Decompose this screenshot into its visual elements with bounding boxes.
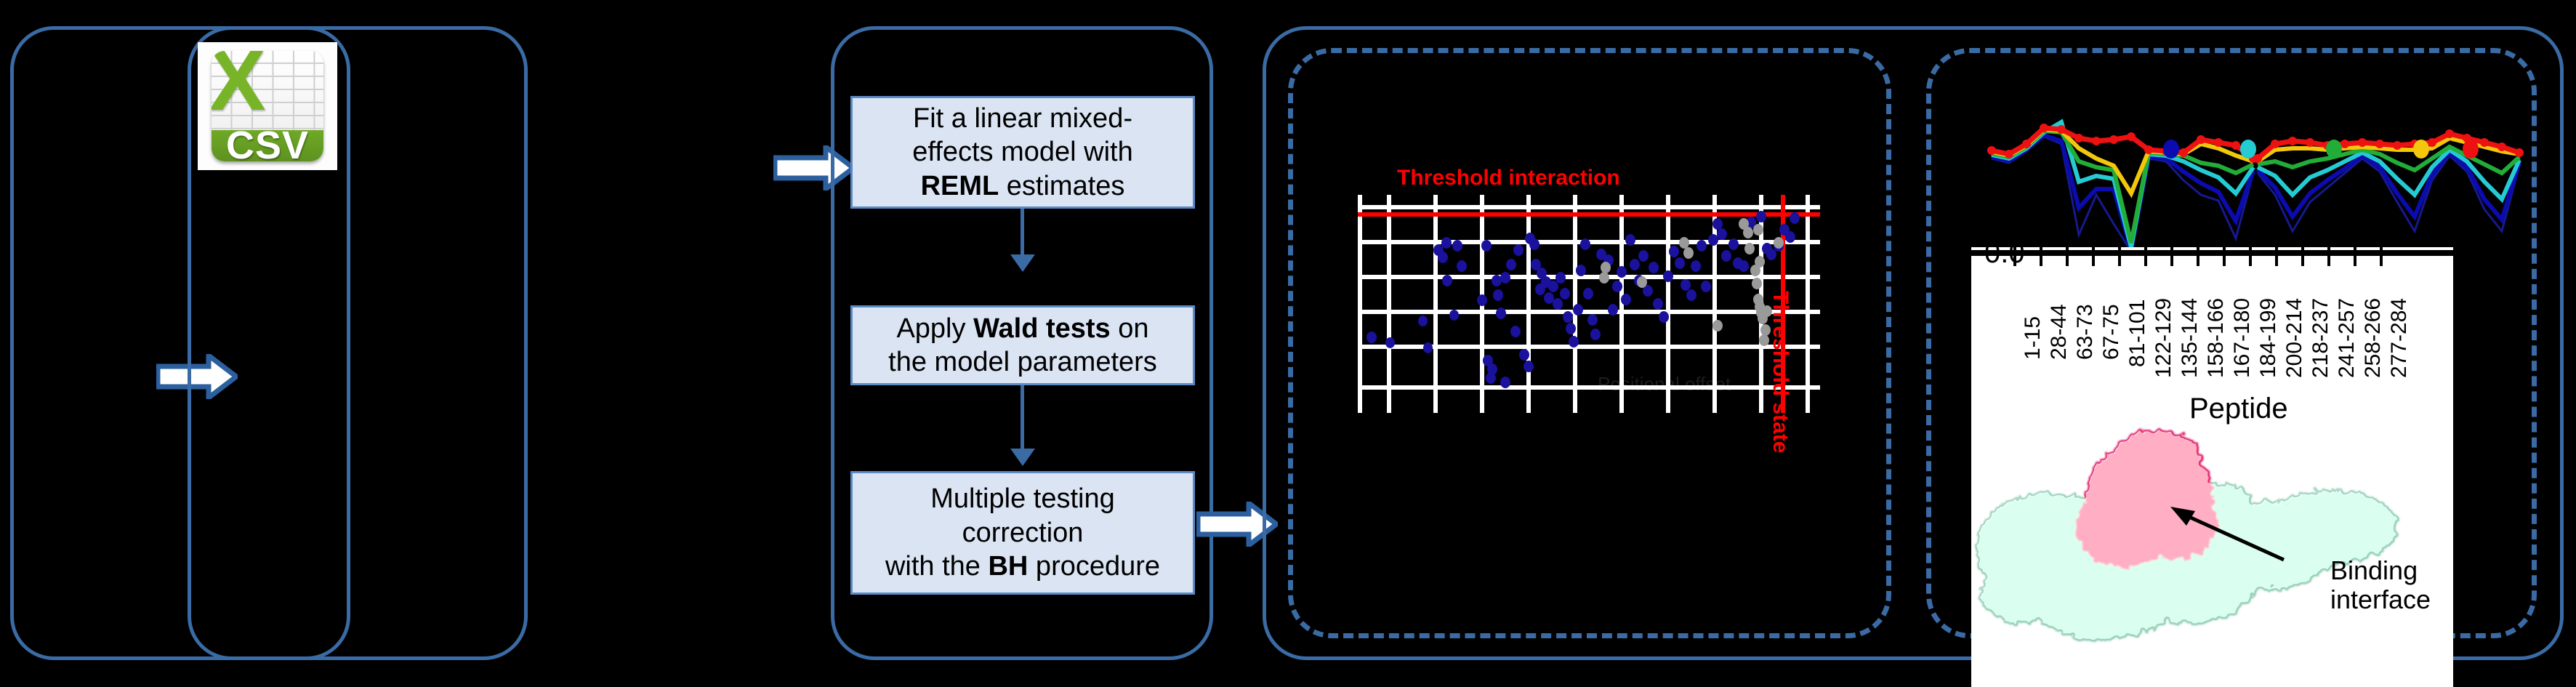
gridline-v	[1526, 195, 1531, 413]
data-point	[1649, 262, 1659, 273]
peptide-tick-label: 167-180	[2230, 298, 2255, 378]
binding-interface-line1: Binding	[2330, 556, 2431, 585]
data-point	[1790, 212, 1800, 224]
gridline-v	[1666, 195, 1670, 413]
legend-dot-blue	[2163, 140, 2179, 158]
step-box-wald: Apply Wald tests on the model parameters	[850, 305, 1195, 385]
data-point-grey	[1712, 320, 1723, 332]
data-point	[1566, 323, 1576, 334]
data-point	[1580, 238, 1590, 250]
axis-tick	[2197, 247, 2199, 266]
legend-dot-cyan	[2240, 140, 2256, 158]
axis-tick	[2013, 247, 2016, 266]
ligand-surface	[2076, 429, 2217, 568]
data-point	[1500, 377, 1510, 388]
peptide-structure-card: 0.0 1-15 28-44 63-73 67-75 81-101 122-12…	[1971, 247, 2453, 687]
data-point	[1686, 289, 1696, 301]
data-point	[1728, 238, 1739, 250]
data-point	[1385, 337, 1395, 348]
data-point	[1442, 275, 1452, 286]
gridline-h	[1358, 310, 1820, 314]
peptide-tick-label: 277-284	[2387, 298, 2412, 378]
peptide-line-chart	[1987, 86, 2537, 253]
gridline-v	[1358, 195, 1362, 413]
data-point	[1573, 304, 1583, 316]
connector-arrowhead-2	[1010, 449, 1035, 466]
data-point	[1621, 294, 1631, 305]
axis-tick	[2066, 247, 2069, 266]
data-point	[1500, 272, 1510, 284]
peptide-tick-label: 158-166	[2204, 298, 2229, 378]
data-point	[1524, 361, 1534, 372]
gridline-v	[1806, 195, 1810, 413]
gridline-v	[1433, 195, 1438, 413]
data-point	[1569, 336, 1579, 347]
data-point-grey	[1683, 247, 1694, 259]
data-point	[1638, 250, 1649, 262]
data-point	[1625, 234, 1635, 246]
data-point	[1669, 246, 1679, 257]
step-box-correction: Multiple testing correction with the BH …	[850, 471, 1195, 595]
flowchart-canvas: X CSV Fit a linear mixed- effects model …	[0, 0, 2576, 687]
data-point	[1438, 252, 1448, 263]
axis-tick	[2118, 247, 2121, 266]
threshold-state-label: Threshold state	[1768, 291, 1792, 453]
threshold-scatter-plot: Positional offset	[1358, 195, 1820, 413]
data-point-grey	[1744, 243, 1755, 254]
axis-tick	[2380, 247, 2383, 266]
axis-tick	[2040, 247, 2042, 266]
peptide-tick-label: 67-75	[2099, 304, 2124, 360]
connector-wald-to-correction	[1021, 385, 1024, 451]
data-point	[1696, 240, 1707, 252]
csv-file-icon: X CSV	[198, 42, 337, 170]
data-point	[1576, 265, 1586, 276]
data-point	[1583, 288, 1593, 300]
data-point	[1555, 272, 1566, 284]
data-point-grey	[1752, 278, 1762, 289]
peptide-tick-label: 200-214	[2282, 298, 2307, 378]
axis-tick	[2301, 247, 2304, 266]
data-point	[1449, 310, 1459, 321]
axis-tick	[2249, 247, 2252, 266]
peptide-tick-label: 241-257	[2335, 298, 2359, 378]
excel-x-glyph: X	[214, 53, 261, 108]
data-point-grey	[1599, 272, 1609, 284]
gridline-h	[1358, 275, 1820, 279]
axis-tick	[2144, 247, 2147, 266]
axis-tick	[2354, 247, 2356, 266]
data-point	[1691, 260, 1701, 272]
data-point	[1486, 372, 1496, 384]
legend-dot-green	[2326, 140, 2342, 158]
data-point	[1493, 289, 1503, 301]
data-point	[1590, 329, 1601, 340]
data-point-grey	[1753, 224, 1763, 236]
data-point	[1529, 238, 1539, 250]
data-point	[1496, 308, 1506, 319]
data-point	[1653, 298, 1663, 310]
axis-tick	[2170, 247, 2173, 266]
binding-interface-annotation: Binding interface	[2330, 556, 2431, 615]
data-point	[1367, 332, 1377, 343]
step-wald-text: Apply Wald tests on the model parameters	[888, 312, 1157, 379]
peptide-tick-label: 63-73	[2073, 304, 2098, 360]
data-point	[1457, 260, 1467, 272]
legend-dot-red	[2463, 140, 2479, 158]
data-point	[1477, 294, 1487, 306]
data-point-grey	[1774, 237, 1784, 249]
step-correction-text: Multiple testing correction with the BH …	[885, 482, 1160, 583]
csv-extension-band: CSV	[212, 130, 323, 161]
data-point-grey	[1750, 265, 1760, 276]
data-point	[1452, 240, 1462, 252]
line-chart-svg	[1987, 86, 2537, 253]
gridline-v	[1387, 195, 1391, 413]
data-point	[1510, 326, 1521, 337]
data-point-grey	[1758, 313, 1768, 324]
data-point	[1717, 228, 1727, 240]
data-point	[1481, 240, 1492, 252]
data-point	[1608, 304, 1618, 316]
data-point-grey	[1637, 276, 1647, 288]
gridline-h	[1358, 205, 1820, 209]
scatter-ghost-axis-label: Positional offset	[1598, 373, 1731, 395]
data-point	[1587, 314, 1598, 326]
data-point	[1663, 270, 1673, 282]
legend-dot-yellow	[2413, 140, 2429, 158]
connector-model-to-wald	[1021, 209, 1024, 257]
data-point	[1617, 266, 1627, 278]
data-point	[1739, 260, 1749, 272]
data-point	[1675, 257, 1685, 269]
data-point	[1506, 259, 1516, 270]
xaxis-title: Peptide	[2189, 393, 2288, 425]
peptide-tick-label: 1-15	[2021, 316, 2045, 360]
axis-tick	[2223, 247, 2226, 266]
axis-tick	[2327, 247, 2330, 266]
threshold-interaction-label: Threshold interaction	[1397, 166, 1620, 190]
csv-icon-body: X CSV	[212, 51, 323, 161]
peptide-tick-label: 184-199	[2256, 298, 2281, 378]
axis-tick	[2092, 247, 2095, 266]
data-point-grey	[1743, 227, 1753, 238]
peptide-tick-label: 258-266	[2361, 298, 2386, 378]
data-point	[1701, 281, 1711, 292]
peptide-tick-label: 122-129	[2152, 298, 2176, 378]
peptide-tick-label: 81-101	[2125, 300, 2150, 367]
data-point	[1423, 342, 1433, 353]
csv-extension-label: CSV	[226, 123, 309, 161]
data-point	[1659, 311, 1669, 323]
data-point	[1553, 298, 1563, 310]
data-point	[1630, 259, 1640, 270]
data-point	[1418, 316, 1428, 326]
data-point	[1513, 244, 1524, 256]
peptide-tick-label: 135-144	[2178, 298, 2202, 378]
data-point	[1441, 237, 1452, 249]
peptide-tick-label: 28-44	[2047, 304, 2072, 360]
binding-interface-line2: interface	[2330, 585, 2431, 614]
data-point	[1560, 288, 1570, 300]
data-point	[1721, 250, 1731, 262]
peptide-tick-label: 218-237	[2309, 298, 2333, 378]
connector-arrowhead-1	[1010, 254, 1035, 272]
data-point	[1563, 311, 1573, 323]
gridline-h	[1358, 385, 1820, 390]
step-box-model: Fit a linear mixed- effects model with R…	[850, 96, 1195, 209]
data-point	[1519, 349, 1529, 361]
axis-tick	[2275, 247, 2278, 266]
data-point	[1756, 211, 1766, 222]
data-point	[1612, 281, 1622, 292]
data-point	[1785, 231, 1795, 243]
step-model-text: Fit a linear mixed- effects model with R…	[912, 102, 1132, 203]
